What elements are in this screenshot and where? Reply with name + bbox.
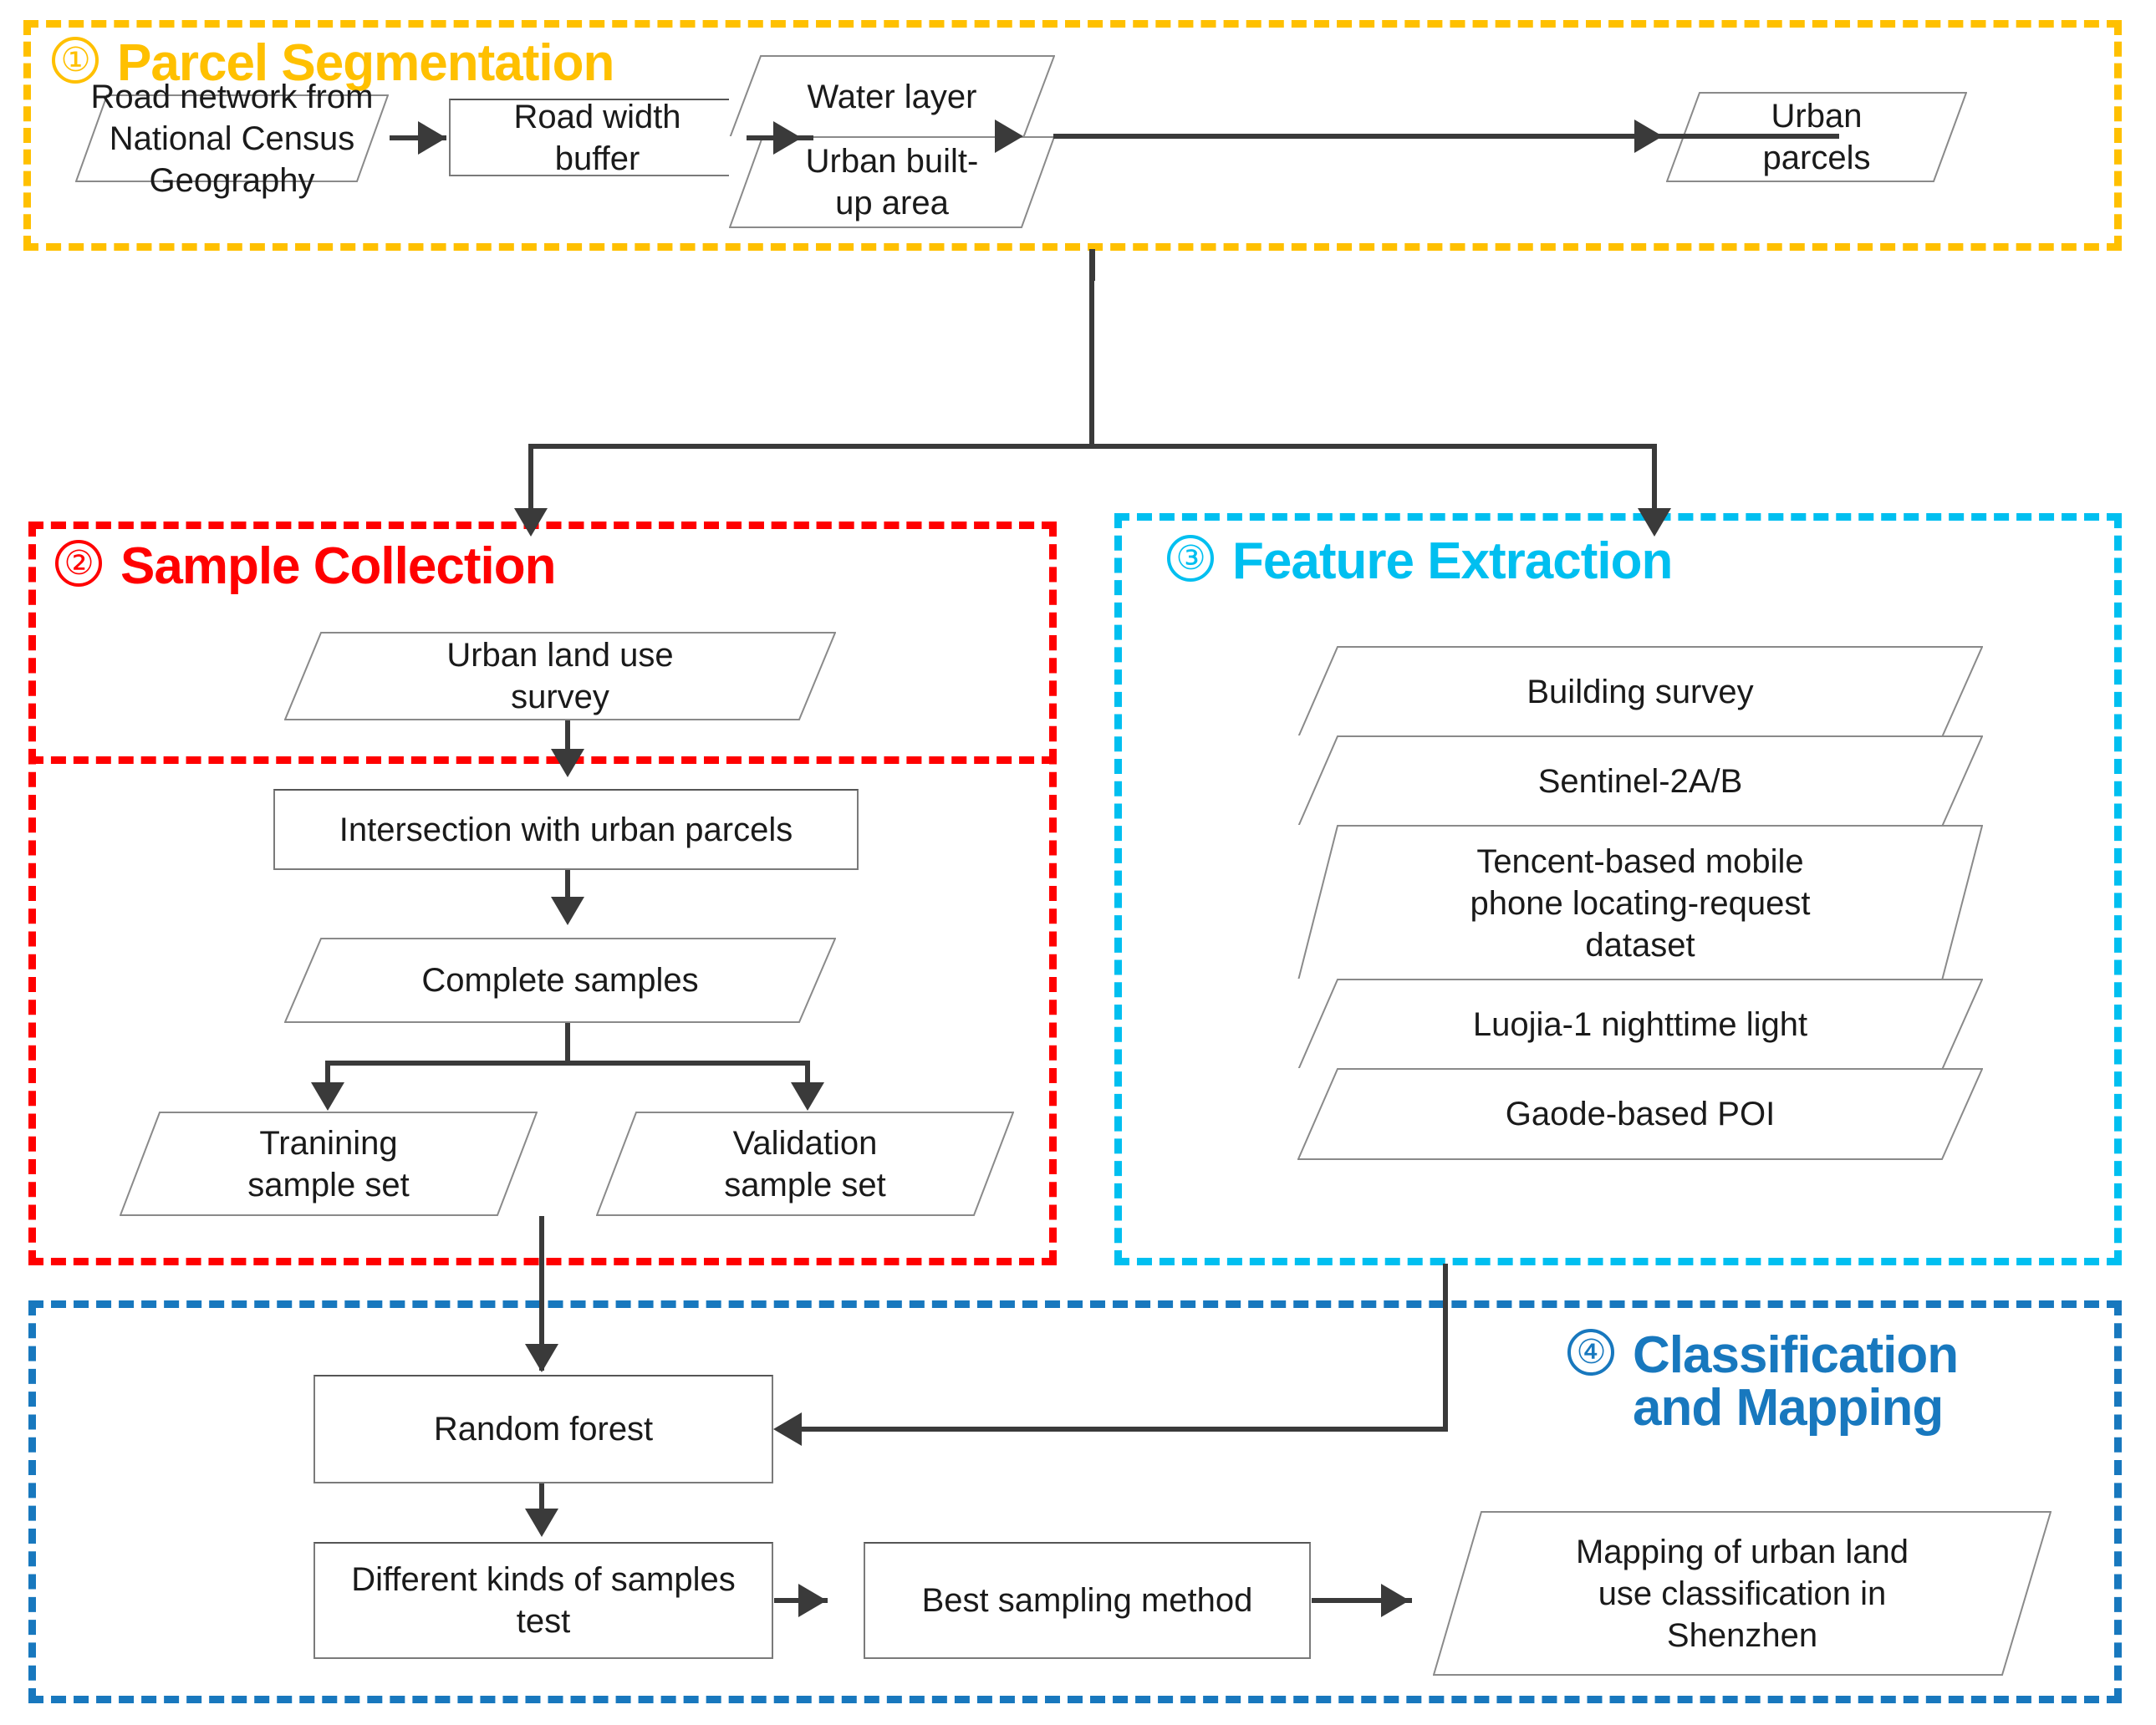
node-road-network: Road network from National Census Geogra… (75, 94, 389, 182)
node-road-width-buffer: Road width buffer (449, 99, 746, 176)
arrowhead-down (1638, 508, 1671, 537)
node-gaode-based-poi: Gaode-based POI (1297, 1068, 1983, 1160)
node-label: Road network from National Census Geogra… (78, 76, 387, 201)
node-sentinel-2a-2b: Sentinel-2A/B (1297, 735, 1983, 827)
section-label-4: Classification and Mapping (1633, 1329, 1958, 1434)
node-label: Urban land use survey (433, 634, 686, 718)
section-number-4: ④ (1567, 1329, 1614, 1376)
connector-samples-split-stem (565, 1023, 570, 1063)
node-label: Luojia-1 nighttime light (1460, 1004, 1821, 1046)
arrowhead-right (1634, 120, 1663, 153)
node-tencent-mobile-dataset: Tencent-based mobile phone locating-requ… (1297, 825, 1983, 981)
arrowhead-right (798, 1584, 827, 1617)
node-label: Tranining sample set (234, 1122, 422, 1206)
arrowhead-right (418, 121, 446, 155)
connector-samples-split-bar (325, 1061, 810, 1066)
section-number-2: ② (55, 540, 102, 587)
arrowhead-down (514, 508, 548, 537)
arrowhead-down (311, 1082, 344, 1111)
node-label: Building survey (1513, 671, 1766, 713)
node-complete-samples: Complete samples (284, 938, 836, 1023)
node-label: Gaode-based POI (1492, 1093, 1788, 1135)
section-title-sample-collection: ② Sample Collection (55, 540, 555, 593)
connector-trunk-drop (1089, 249, 1094, 446)
node-label: Urban built- up area (793, 140, 992, 224)
arrowhead-down (551, 749, 584, 777)
node-validation-sample-set: Validation sample set (596, 1112, 1014, 1216)
node-different-kinds-samples-test: Different kinds of samples test (313, 1542, 773, 1659)
arrowhead-right (773, 121, 802, 155)
node-training-sample-set: Tranining sample set (120, 1112, 538, 1216)
node-building-survey: Building survey (1297, 646, 1983, 738)
connector-layers-to-parcels (1053, 134, 1839, 139)
arrowhead-right (995, 120, 1023, 153)
section-title-classification-mapping: ④ Classification and Mapping (1567, 1329, 1958, 1434)
arrowhead-down (791, 1082, 824, 1111)
node-intersection-with-urban-parcels: Intersection with urban parcels (273, 789, 859, 870)
node-best-sampling-method: Best sampling method (864, 1542, 1311, 1659)
section-label-3: Feature Extraction (1232, 535, 1672, 588)
node-luojia-nighttime-light: Luojia-1 nighttime light (1297, 979, 1983, 1071)
node-label: Sentinel-2A/B (1525, 761, 1756, 802)
arrowhead-right (1381, 1584, 1409, 1617)
arrowhead-down (525, 1509, 558, 1537)
node-label: Mapping of urban land use classification… (1562, 1531, 1922, 1656)
node-final-mapping-output: Mapping of urban land use classification… (1433, 1511, 2052, 1676)
node-urban-land-use-survey: Urban land use survey (284, 632, 836, 720)
flowchart-canvas: ① Parcel Segmentation Road network from … (0, 0, 2156, 1725)
section-title-feature-extraction: ③ Feature Extraction (1167, 535, 1672, 588)
connector-features-elbow-vertical (1443, 1264, 1448, 1431)
node-label: Complete samples (408, 959, 711, 1001)
arrowhead-down (525, 1344, 558, 1372)
node-label: Tencent-based mobile phone locating-requ… (1457, 841, 1824, 966)
node-label: Water layer (793, 76, 990, 118)
section-label-2: Sample Collection (120, 540, 555, 593)
node-label: Validation sample set (711, 1122, 899, 1206)
section-number-3: ③ (1167, 535, 1214, 582)
arrowhead-down (551, 897, 584, 925)
node-random-forest: Random forest (313, 1375, 773, 1483)
arrowhead-left (773, 1412, 802, 1446)
connector-features-elbow-horizontal (801, 1427, 1448, 1432)
